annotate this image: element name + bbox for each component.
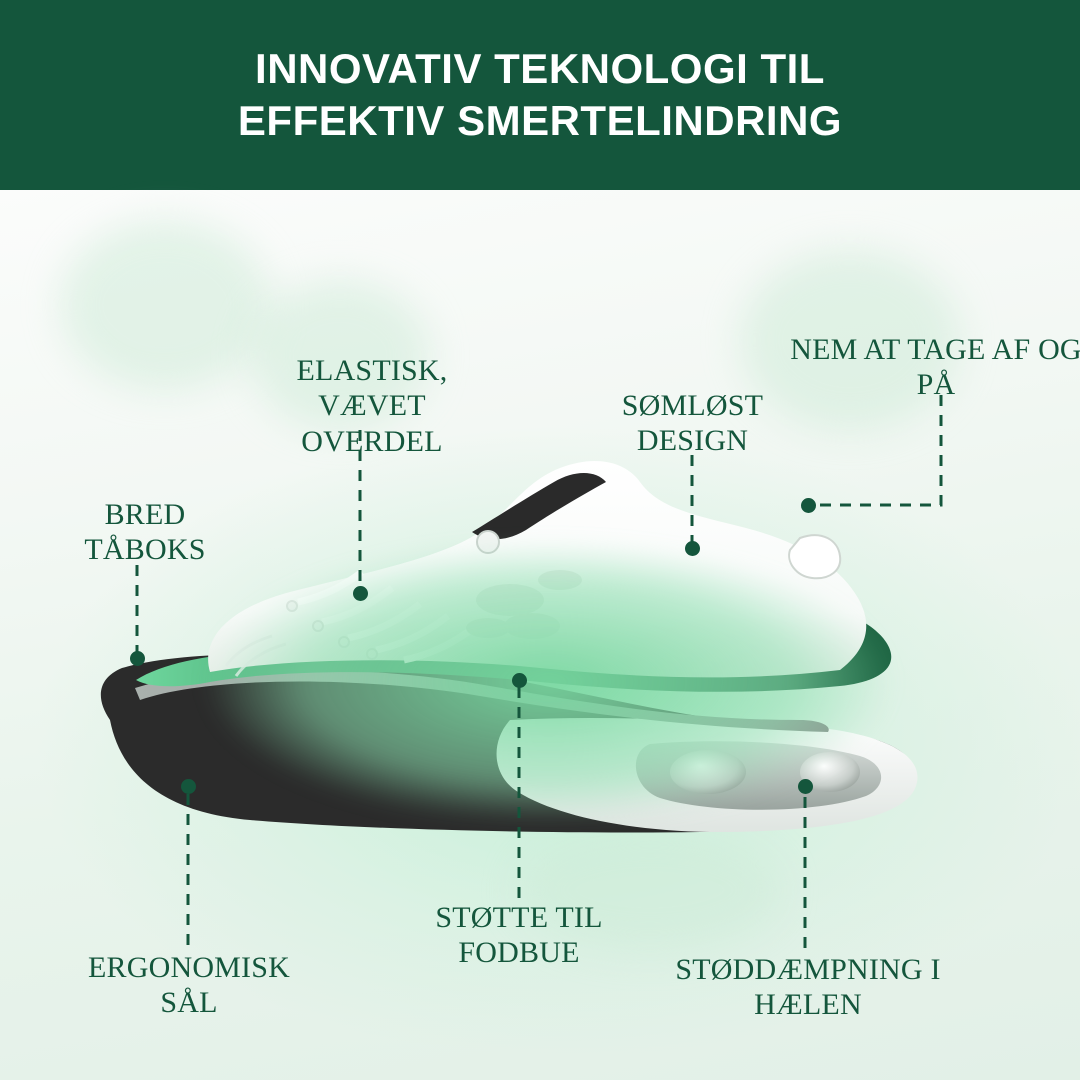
product-image-sneaker [40,420,1050,890]
callout-label-ergonomisk-sal: ERGONOMISK SÅL [60,950,318,1021]
page-title: INNOVATIV TEKNOLOGI TIL EFFEKTIV SMERTEL… [238,43,842,148]
infographic-page: INNOVATIV TEKNOLOGI TIL EFFEKTIV SMERTEL… [0,0,1080,1080]
callout-label-elastisk-overdel: ELASTISK, VÆVET OVERDEL [245,353,499,459]
anchor-dot-elastisk-overdel [353,586,368,601]
callout-label-stotte-fodbue: STØTTE TIL FODBUE [400,900,638,971]
callout-label-stoddaempning: STØDDÆMPNING I HÆLEN [663,952,953,1023]
callout-label-nem-at-tage: NEM AT TAGE AF OG PÅ [790,332,1080,403]
header-banner: INNOVATIV TEKNOLOGI TIL EFFEKTIV SMERTEL… [0,0,1080,190]
anchor-dot-stotte-fodbue [512,673,527,688]
callout-label-bred-taboks: BRED TÅBOKS [60,497,230,568]
background-blotch [60,220,270,390]
anchor-dot-nem-at-tage [801,498,816,513]
anchor-dot-bred-taboks [130,651,145,666]
anchor-dot-somlost-design [685,541,700,556]
anchor-dot-stoddaempning [798,779,813,794]
anchor-dot-ergonomisk-sal [181,779,196,794]
callout-label-somlost-design: SØMLØST DESIGN [600,388,785,459]
